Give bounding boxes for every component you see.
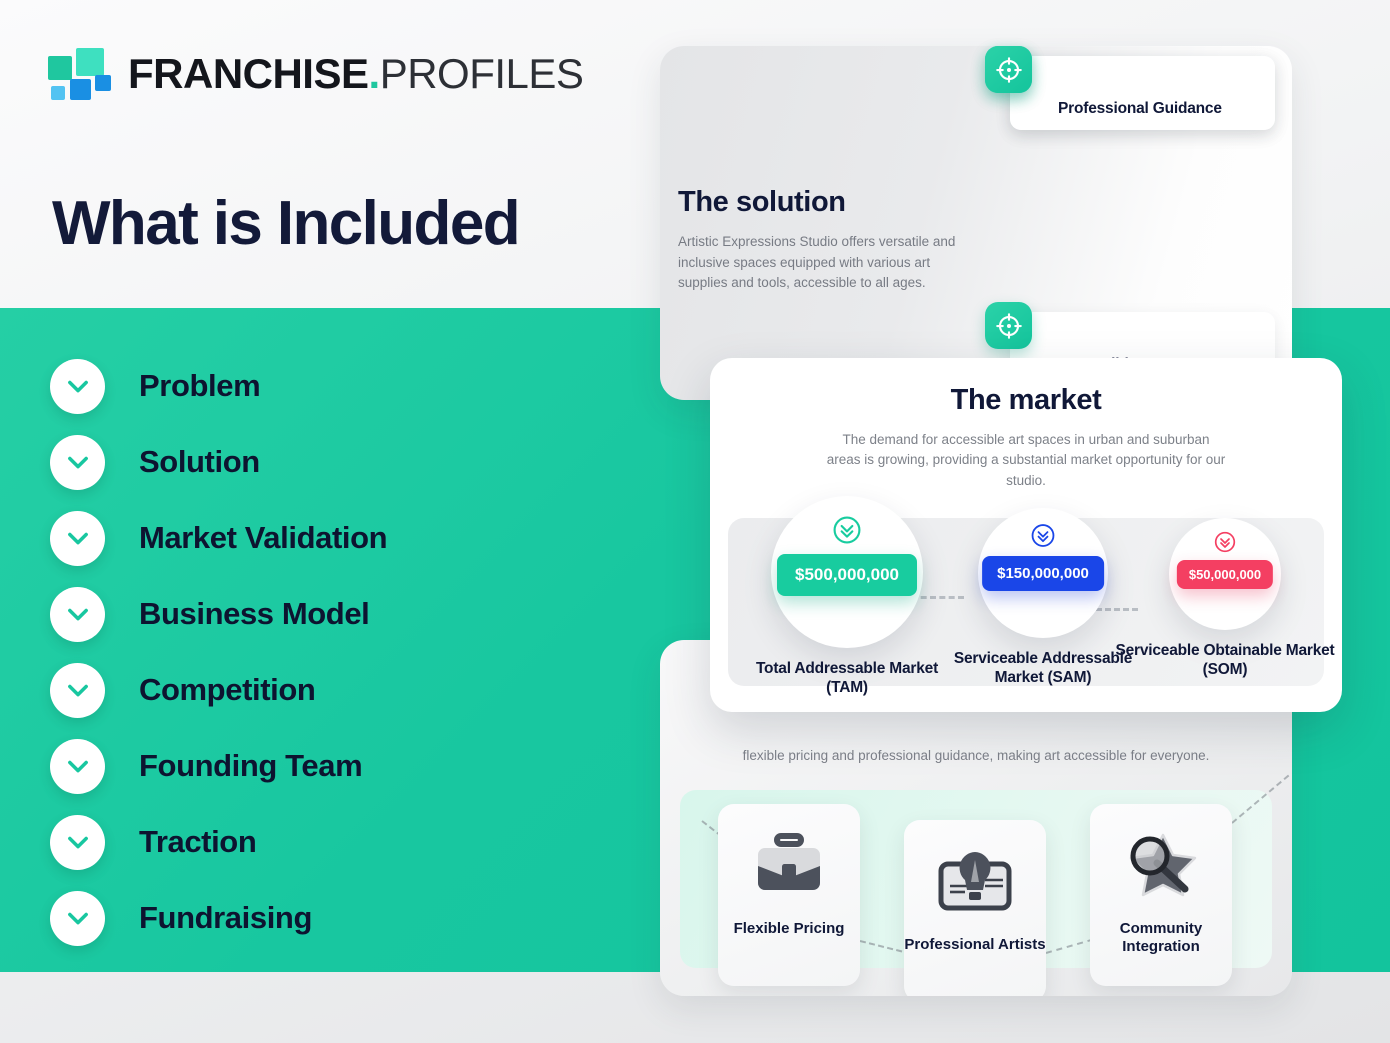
market-segment-value: $50,000,000 (1177, 560, 1273, 589)
solution-feature-card[interactable]: Professional Guidance (1010, 56, 1275, 130)
business-model-card-label: Flexible Pricing (734, 920, 845, 938)
toc-item-label: Solution (139, 444, 260, 480)
squares-logo-icon (48, 48, 110, 100)
double-chevron-down-icon (1030, 522, 1057, 554)
toc-item-fundraising[interactable]: Fundraising (50, 880, 610, 956)
briefcase-icon (739, 820, 839, 912)
included-sections-list: Problem Solution Market Validation Busin… (50, 348, 610, 956)
brand-name-part1: FRANCHISE (128, 50, 369, 97)
solution-feature-row: Professional Guidance (985, 46, 1275, 120)
chevron-down-icon (50, 587, 105, 642)
market-segment-name: Serviceable Obtainable Market (SOM) (1114, 642, 1336, 679)
star-magnifier-icon (1111, 820, 1211, 912)
business-model-description: flexible pricing and professional guidan… (660, 746, 1292, 766)
toc-item-label: Traction (139, 824, 256, 860)
brand-logo: FRANCHISE.PROFILES (48, 48, 583, 100)
chevron-down-icon (50, 511, 105, 566)
toc-item-label: Competition (139, 672, 315, 708)
market-segment-circle: $500,000,000 (771, 496, 923, 648)
business-model-card-label: Professional Artists (904, 936, 1045, 954)
market-segment-tam[interactable]: $500,000,000 Total Addressable Market (T… (736, 496, 958, 697)
target-icon (985, 302, 1032, 349)
toc-item-founding-team[interactable]: Founding Team (50, 728, 610, 804)
double-chevron-down-icon (831, 514, 863, 551)
toc-item-label: Problem (139, 368, 260, 404)
toc-item-label: Founding Team (139, 748, 362, 784)
chevron-down-icon (50, 891, 105, 946)
chevron-down-icon (50, 815, 105, 870)
market-segment-som[interactable]: $50,000,000 Serviceable Obtainable Marke… (1114, 518, 1336, 679)
chevron-down-icon (50, 663, 105, 718)
solution-feature-label: Professional Guidance (1058, 100, 1222, 118)
market-segment-value: $500,000,000 (777, 554, 917, 596)
chevron-down-icon (50, 435, 105, 490)
toc-item-business-model[interactable]: Business Model (50, 576, 610, 652)
toc-item-label: Fundraising (139, 900, 312, 936)
market-segment-name: Total Addressable Market (TAM) (736, 660, 958, 697)
solution-title: The solution (678, 186, 846, 219)
chevron-down-icon (50, 739, 105, 794)
solution-slide-card[interactable]: The solution Artistic Expressions Studio… (660, 46, 1292, 400)
market-description: The demand for accessible art spaces in … (826, 430, 1226, 491)
toc-item-solution[interactable]: Solution (50, 424, 610, 500)
toc-item-label: Market Validation (139, 520, 387, 556)
page-title: What is Included (52, 188, 519, 259)
brand-name: FRANCHISE.PROFILES (128, 53, 583, 95)
business-model-card[interactable]: Professional Artists (904, 820, 1046, 996)
solution-description: Artistic Expressions Studio offers versa… (678, 232, 958, 294)
toc-item-competition[interactable]: Competition (50, 652, 610, 728)
toc-item-market-validation[interactable]: Market Validation (50, 500, 610, 576)
brand-name-part2: PROFILES (380, 50, 584, 97)
target-icon (985, 46, 1032, 93)
market-segment-circle: $50,000,000 (1169, 518, 1281, 630)
toc-item-label: Business Model (139, 596, 369, 632)
toc-item-traction[interactable]: Traction (50, 804, 610, 880)
market-title: The market (710, 384, 1342, 417)
toc-item-problem[interactable]: Problem (50, 348, 610, 424)
business-model-card[interactable]: Flexible Pricing (718, 804, 860, 986)
business-model-card-label: Community Integration (1090, 920, 1232, 957)
market-segment-value: $150,000,000 (982, 556, 1104, 591)
double-chevron-down-icon (1213, 530, 1237, 559)
market-segment-circle: $150,000,000 (978, 508, 1108, 638)
business-model-card[interactable]: Community Integration (1090, 804, 1232, 986)
chevron-down-icon (50, 359, 105, 414)
slides-preview-stage: The solution Artistic Expressions Studio… (660, 46, 1292, 996)
brand-name-dot: . (369, 50, 380, 97)
lightbulb-frame-icon (925, 836, 1025, 928)
market-slide-card[interactable]: The market The demand for accessible art… (710, 358, 1342, 712)
